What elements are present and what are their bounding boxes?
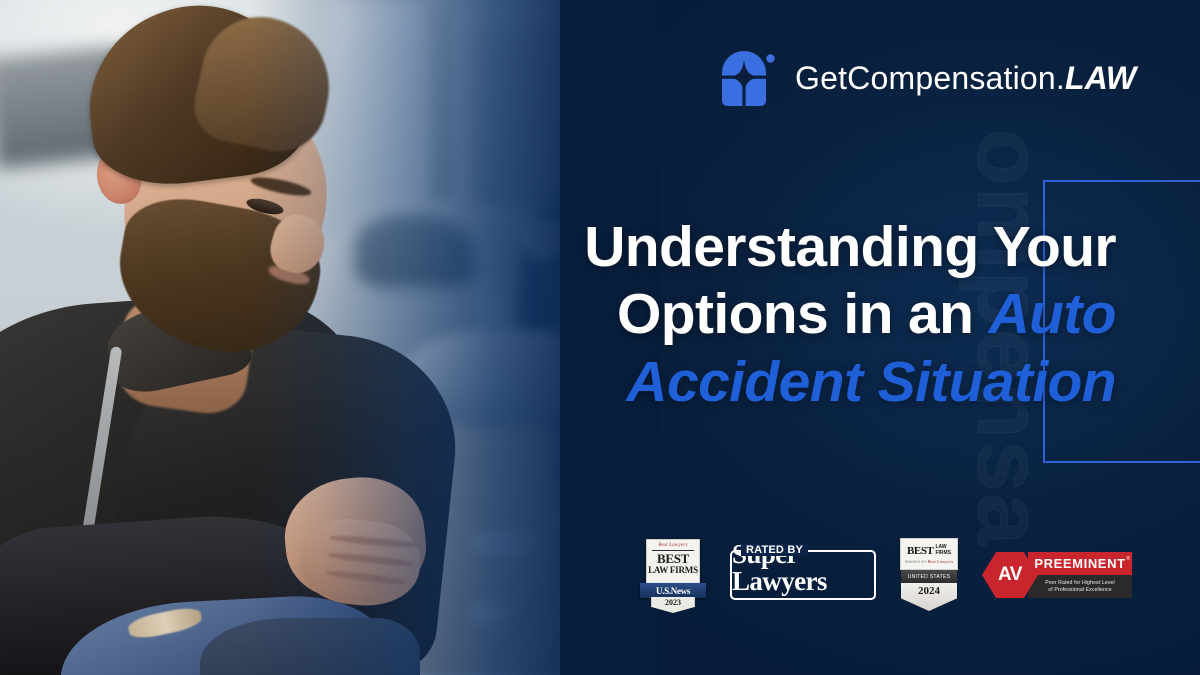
- logo-tld: LAW: [1065, 60, 1136, 96]
- brand-logo[interactable]: GetCompensation.LAW: [718, 47, 1136, 109]
- award-badge-row: Best Lawyers BEST LAW FIRMS U.S.News 202…: [640, 537, 1140, 613]
- badge3-ranked-brand: Best Lawyers: [927, 559, 953, 564]
- badge4-subtitle-band: Peer Rated for Highest Level of Professi…: [1028, 575, 1132, 598]
- headline-line-2-plain: Options in an: [617, 282, 989, 346]
- badge3-title-best: BEST: [907, 545, 934, 557]
- badge3-ranked-by: RANKED BY: [905, 560, 927, 564]
- badge3-title-row: BEST LAW FIRMS: [907, 545, 951, 557]
- badge4-trademark: ®: [1126, 556, 1130, 562]
- badge-super-lawyers[interactable]: RATED BY Super Lawyers: [730, 550, 876, 600]
- badge1-title-line2: LAW FIRMS: [648, 566, 698, 576]
- badge4-title: PREEMINENT: [1034, 556, 1125, 571]
- badge3-title-lawfirms: LAW FIRMS: [935, 545, 951, 556]
- hero-headline: Understanding Your Options in an Auto Ac…: [516, 214, 1116, 416]
- badge1-ribbon-label: U.S.News: [656, 586, 690, 596]
- badge-av-preeminent[interactable]: AV PREEMINENT ® Peer Rated for Highest L…: [982, 552, 1132, 598]
- brand-logo-text: GetCompensation.LAW: [795, 60, 1136, 97]
- arch-sparkle-logo-icon: [718, 47, 778, 109]
- headline-line-3-accent: Accident Situation: [626, 350, 1116, 414]
- logo-name: GetCompensation: [795, 60, 1056, 96]
- badge3-year-shield: 2024: [901, 583, 957, 611]
- badge3-year: 2024: [918, 585, 940, 597]
- badge2-top-label: RATED BY: [741, 544, 808, 556]
- badge4-right: PREEMINENT ® Peer Rated for Highest Leve…: [1028, 552, 1132, 598]
- badge1-tail: 2023: [651, 597, 695, 613]
- badge4-mark: AV: [998, 564, 1022, 586]
- badge3-title-firms: FIRMS: [935, 550, 951, 556]
- badge3-ranked-row: RANKED BY Best Lawyers: [905, 559, 954, 564]
- badge1-title-line1: BEST: [657, 552, 689, 566]
- badge3-region: UNITED STATES: [908, 574, 951, 580]
- badge3-top: BEST LAW FIRMS RANKED BY Best Lawyers: [900, 538, 958, 570]
- logo-dot: .: [1056, 60, 1065, 96]
- headline-line-2-accent: Auto: [989, 282, 1116, 346]
- hero-banner: ompensa GetCompensation.LAW Understandin…: [0, 0, 1200, 675]
- badge1-top-label: Best Lawyers: [658, 543, 687, 548]
- badge-best-law-firms-2024[interactable]: BEST LAW FIRMS RANKED BY Best Lawyers UN…: [900, 538, 958, 612]
- badge4-sub-line2: of Professional Excellence: [1048, 587, 1111, 594]
- headline-line-1: Understanding Your: [584, 215, 1116, 279]
- badge1-year: 2023: [665, 598, 681, 607]
- badge3-region-band: UNITED STATES: [901, 570, 957, 583]
- badge-best-law-firms-usnews[interactable]: Best Lawyers BEST LAW FIRMS U.S.News 202…: [640, 539, 706, 611]
- badge1-ribbon: U.S.News: [640, 583, 706, 598]
- badge4-title-band: PREEMINENT ®: [1028, 552, 1132, 575]
